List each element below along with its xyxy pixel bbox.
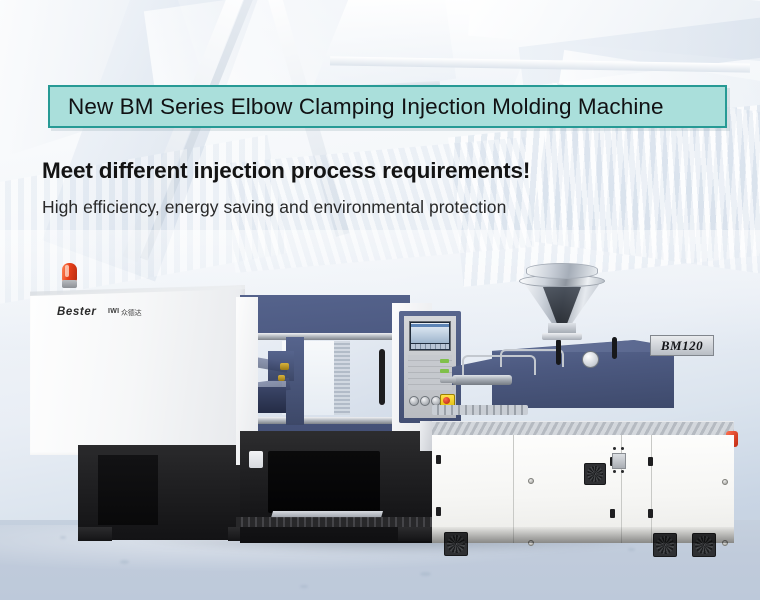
clamp-base-recess	[98, 455, 158, 525]
injection-nozzle	[440, 377, 456, 383]
emergency-stop-button[interactable]	[443, 397, 450, 404]
lock-indicator-3	[613, 470, 616, 473]
injection-hose-2	[612, 337, 617, 359]
product-title-banner: New BM Series Elbow Clamping Injection M…	[48, 85, 727, 128]
hopper-lid	[526, 263, 598, 279]
hmi-titlebar	[411, 324, 449, 327]
green-function-key-2[interactable]	[440, 369, 449, 373]
beacon-base	[62, 280, 77, 288]
lock-indicator-4	[621, 470, 624, 473]
barrel-safety-guardrail-2	[500, 349, 564, 367]
floor-speck-2	[420, 572, 431, 576]
cabinet-screw-3	[722, 479, 728, 485]
cabinet-hinge-2	[436, 507, 441, 516]
lock-indicator-2	[621, 447, 624, 450]
brand-logo-text: Bester	[57, 306, 96, 318]
cabinet-hinge-5	[648, 457, 653, 466]
injection-barrel	[452, 375, 512, 385]
green-function-key-1[interactable]	[440, 359, 449, 363]
brand-mark-text: IWI	[108, 308, 119, 315]
injection-molding-machine: Bester IWI 众德达	[0, 255, 760, 555]
cabinet-screw-1	[528, 478, 534, 484]
center-base-foot	[398, 527, 432, 541]
tie-bar-lower	[252, 417, 400, 424]
cabinet-hinge-6	[648, 509, 653, 518]
cabinet-hinge-4	[610, 509, 615, 518]
brand-cn-text: 众德达	[121, 308, 141, 318]
cabinet-lock[interactable]	[612, 453, 626, 469]
beacon-highlight	[65, 265, 69, 277]
toggle-pin-1	[280, 363, 289, 370]
clamp-base-foot-left	[78, 527, 112, 541]
toggle-pin-2	[278, 375, 285, 381]
hmi-softkey-row[interactable]	[411, 344, 449, 349]
floor-speck-4	[300, 585, 308, 588]
side-conveyor-rail	[432, 405, 528, 415]
panel-button-2[interactable]	[420, 396, 430, 406]
checker-plate-deck	[432, 421, 734, 436]
fan-grille-1	[584, 463, 606, 485]
floor-speck-1	[120, 560, 129, 564]
base-access-opening	[268, 451, 380, 513]
pressure-gauge-injection	[582, 351, 599, 368]
hopper-mounting-flange	[542, 333, 582, 340]
promo-banner-image: New BM Series Elbow Clamping Injection M…	[0, 0, 760, 600]
base-label-plate	[249, 451, 263, 468]
headline-text: Meet different injection process require…	[42, 158, 530, 184]
product-title-text: New BM Series Elbow Clamping Injection M…	[50, 94, 664, 120]
fan-blades-1	[587, 466, 603, 482]
cabinet-base-shadow	[432, 527, 734, 543]
subheadline-text: High efficiency, energy saving and envir…	[42, 197, 506, 218]
guard-door-handle	[379, 349, 385, 405]
model-plate: BM120	[650, 335, 714, 356]
panel-button-1[interactable]	[409, 396, 419, 406]
roller-bed	[236, 517, 442, 527]
model-plate-text: BM120	[661, 338, 703, 354]
injection-hose-1	[556, 339, 561, 365]
tie-bar-upper	[252, 333, 400, 340]
lock-indicator-1	[613, 447, 616, 450]
cabinet-hinge-1	[436, 455, 441, 464]
mold-texture-plate	[334, 341, 350, 415]
